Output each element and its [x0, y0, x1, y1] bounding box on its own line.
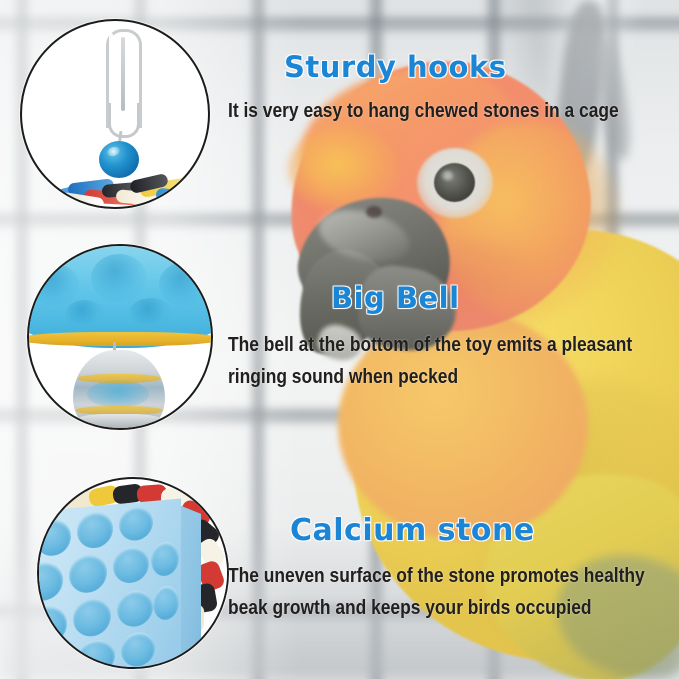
- stone-dimple: [151, 541, 179, 577]
- product-feature-infographic: Sturdy hooks It is very easy to hang che…: [0, 0, 679, 679]
- hook-stem: [121, 37, 125, 111]
- stone-dimple: [31, 264, 79, 306]
- stone-dimple: [37, 646, 71, 669]
- feature-title: Big Bell: [331, 281, 668, 315]
- hook-lower-curve: [108, 103, 140, 138]
- feature-description-line: The uneven surface of the stone promotes…: [228, 565, 620, 588]
- inset-big-bell: [27, 244, 213, 430]
- feature-block-sturdy-hooks: Sturdy hooks It is very easy to hang che…: [228, 50, 668, 123]
- blue-bead: [99, 141, 139, 178]
- stone-dimple: [153, 585, 179, 621]
- feature-description: It is very easy to hang chewed stones in…: [228, 100, 668, 123]
- stone-dimple: [37, 561, 63, 602]
- parrot-eye-glint: [441, 170, 454, 181]
- stone-dimple: [77, 638, 115, 669]
- stone-dimple: [159, 262, 211, 306]
- stone-dimple: [37, 604, 67, 645]
- bell-clapper: [117, 428, 119, 430]
- stone-dimple: [37, 518, 71, 557]
- feature-title: Sturdy hooks: [284, 50, 668, 84]
- bell-band-upper: [77, 374, 161, 383]
- feature-block-calcium-stone: Calcium stone The uneven surface of the …: [228, 513, 678, 620]
- calcium-stone-rim: [27, 332, 213, 346]
- stone-dimple: [117, 589, 153, 628]
- feature-description-line: It is very easy to hang chewed stones in…: [228, 100, 611, 123]
- feature-description-line: ringing sound when pecked: [228, 366, 611, 389]
- feature-description: The uneven surface of the stone promotes…: [228, 565, 678, 620]
- inset-big-bell-art: [29, 246, 211, 428]
- stone-dimple: [65, 300, 105, 328]
- feature-block-big-bell: Big Bell The bell at the bottom of the t…: [228, 281, 668, 389]
- inset-calcium-stone-art: [39, 479, 227, 667]
- inset-sturdy-hooks-art: [22, 21, 208, 207]
- inset-calcium-stone: [37, 477, 229, 669]
- feature-description-line: beak growth and keeps your birds occupie…: [228, 597, 620, 620]
- stone-dimple: [69, 553, 107, 594]
- parrot-nostril: [366, 206, 382, 218]
- parrot-eye: [434, 163, 475, 202]
- feature-title: Calcium stone: [290, 513, 678, 548]
- calcium-stone-icon: [37, 499, 181, 669]
- stone-dimple: [91, 254, 147, 302]
- stone-dimple: [77, 510, 113, 549]
- bell-blue-reflection: [87, 380, 149, 408]
- stone-dimple: [129, 298, 173, 328]
- stone-dimple: [113, 545, 149, 584]
- stone-dimple: [121, 631, 155, 668]
- inset-sturdy-hooks: [20, 19, 210, 209]
- feature-description: The bell at the bottom of the toy emits …: [228, 334, 668, 389]
- feature-description-line: The bell at the bottom of the toy emits …: [228, 334, 611, 357]
- stone-dimple: [119, 505, 153, 542]
- stone-dimple: [73, 597, 111, 638]
